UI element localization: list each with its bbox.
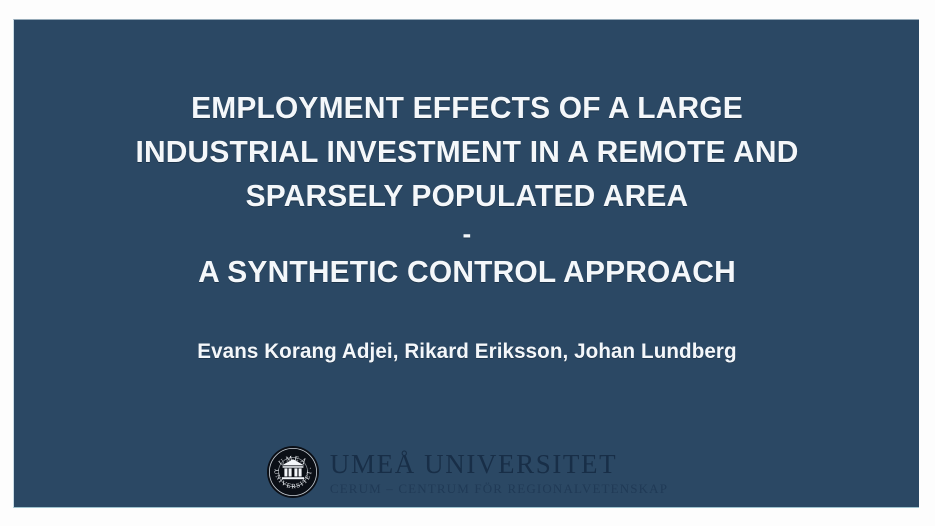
institution-logo: · UMEÅ · UNIVERSITET UMEÅ UNIVERSITET CE…: [14, 445, 919, 499]
umea-university-seal-icon: · UMEÅ · UNIVERSITET: [266, 445, 320, 499]
author-list: Evans Korang Adjei, Rikard Eriksson, Joh…: [23, 340, 911, 364]
title-line-5: A SYNTHETIC CONTROL APPROACH: [30, 250, 904, 294]
slide-viewer: EMPLOYMENT EFFECTS OF A LARGE INDUSTRIAL…: [0, 0, 935, 526]
title-line-1: EMPLOYMENT EFFECTS OF A LARGE: [30, 86, 904, 130]
logo-tagline: CERUM – CENTRUM FÖR REGIONALVETENSKAP: [330, 481, 668, 497]
slide-title: EMPLOYMENT EFFECTS OF A LARGE INDUSTRIAL…: [14, 86, 919, 294]
title-line-2: INDUSTRIAL INVESTMENT IN A REMOTE AND: [30, 130, 904, 174]
logo-text-block: UMEÅ UNIVERSITET CERUM – CENTRUM FÖR REG…: [330, 448, 668, 497]
logo-wordmark: UMEÅ UNIVERSITET: [330, 450, 668, 478]
presentation-slide: EMPLOYMENT EFFECTS OF A LARGE INDUSTRIAL…: [13, 19, 919, 508]
title-separator-dash: -: [30, 218, 904, 250]
title-line-3: SPARSELY POPULATED AREA: [30, 174, 904, 218]
